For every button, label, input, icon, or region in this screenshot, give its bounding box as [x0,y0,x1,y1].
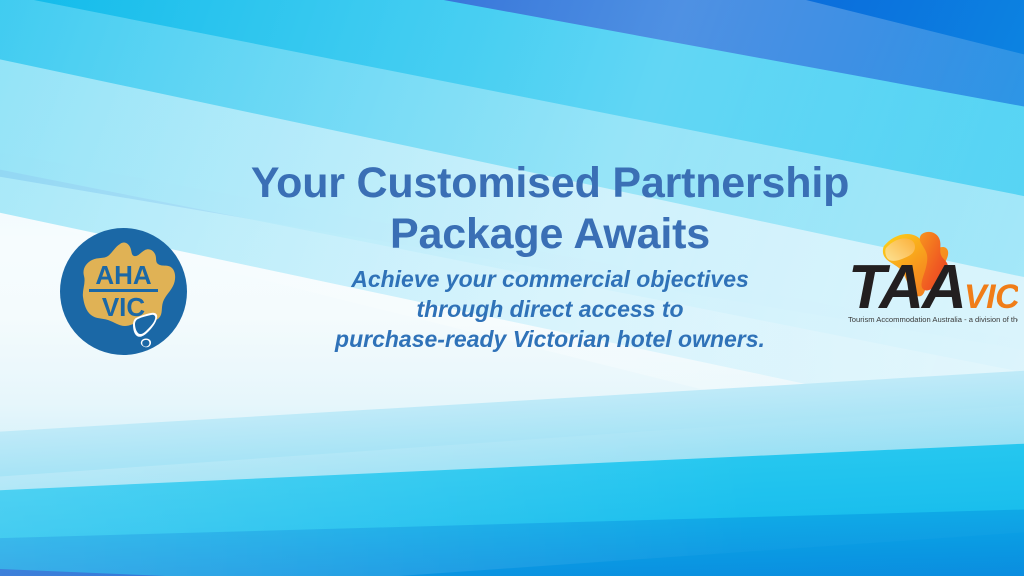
subtitle-line-2: through direct access to [200,295,900,325]
headline-line-1: Your Customised Partnership [251,159,849,207]
aha-vic-logo: AHA VIC [60,228,187,355]
taa-logo-suffix: VIC [964,278,1018,316]
aha-logo-text-bottom: VIC [102,292,146,322]
subtitle-line-3: purchase-ready Victorian hotel owners. [200,325,900,355]
page-title: Your Customised Partnership Package Awai… [200,158,900,259]
taa-logo-tagline: Tourism Accommodation Australia - a divi… [848,315,1018,324]
aha-vic-logo-graphic: AHA VIC [60,228,187,355]
slide-text-block: Your Customised Partnership Package Awai… [200,158,900,355]
slide-canvas: AHA VIC [0,0,1024,576]
subtitle-line-1: Achieve your commercial objectives [200,265,900,295]
aha-logo-text-top: AHA [95,260,152,290]
taa-vic-logo-graphic: TAA VIC Tourism Accommodation Australia … [846,226,1018,338]
page-subtitle: Achieve your commercial objectives throu… [200,265,900,355]
headline-line-2: Package Awaits [390,210,710,258]
taa-vic-logo: TAA VIC Tourism Accommodation Australia … [846,226,1018,338]
taa-logo-wordmark: TAA [848,253,965,322]
